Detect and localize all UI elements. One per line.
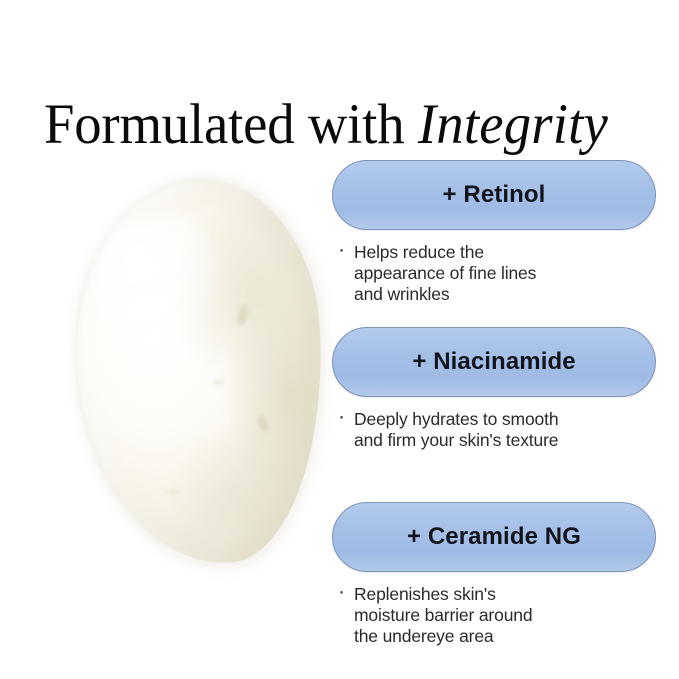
ingredient-item-niacinamide: + Niacinamide Deeply hydrates to smooth … (332, 327, 658, 469)
cream-swatch-texture-mark (165, 488, 180, 495)
ingredient-badge-retinol[interactable]: + Retinol (332, 160, 656, 230)
ingredient-item-retinol: + Retinol Helps reduce the appearance of… (332, 160, 658, 323)
ingredient-description: Deeply hydrates to smooth and firm your … (332, 409, 658, 451)
ingredient-description: Replenishes skin's moisture barrier arou… (332, 584, 658, 647)
cream-swatch-texture-mark (213, 378, 226, 386)
ingredient-badge-label: + Ceramide NG (407, 523, 581, 551)
cream-swatch-highlight (89, 210, 223, 355)
ingredient-list: + Retinol Helps reduce the appearance of… (332, 0, 662, 679)
ingredient-badge-ceramide-ng[interactable]: + Ceramide NG (332, 502, 656, 572)
cream-swatch-texture-mark (257, 414, 269, 432)
ingredient-badge-label: + Retinol (443, 181, 546, 209)
ingredient-badge-label: + Niacinamide (412, 348, 575, 376)
ingredient-description: Helps reduce the appearance of fine line… (332, 242, 658, 305)
cream-swatch-texture-mark (236, 304, 249, 326)
product-ingredients-infographic: Formulated with Integrity + Retinol Help… (0, 0, 679, 679)
cream-swatch-image (62, 168, 334, 576)
ingredient-item-ceramide-ng: + Ceramide NG Replenishes skin's moistur… (332, 502, 658, 665)
ingredient-badge-niacinamide[interactable]: + Niacinamide (332, 327, 656, 397)
